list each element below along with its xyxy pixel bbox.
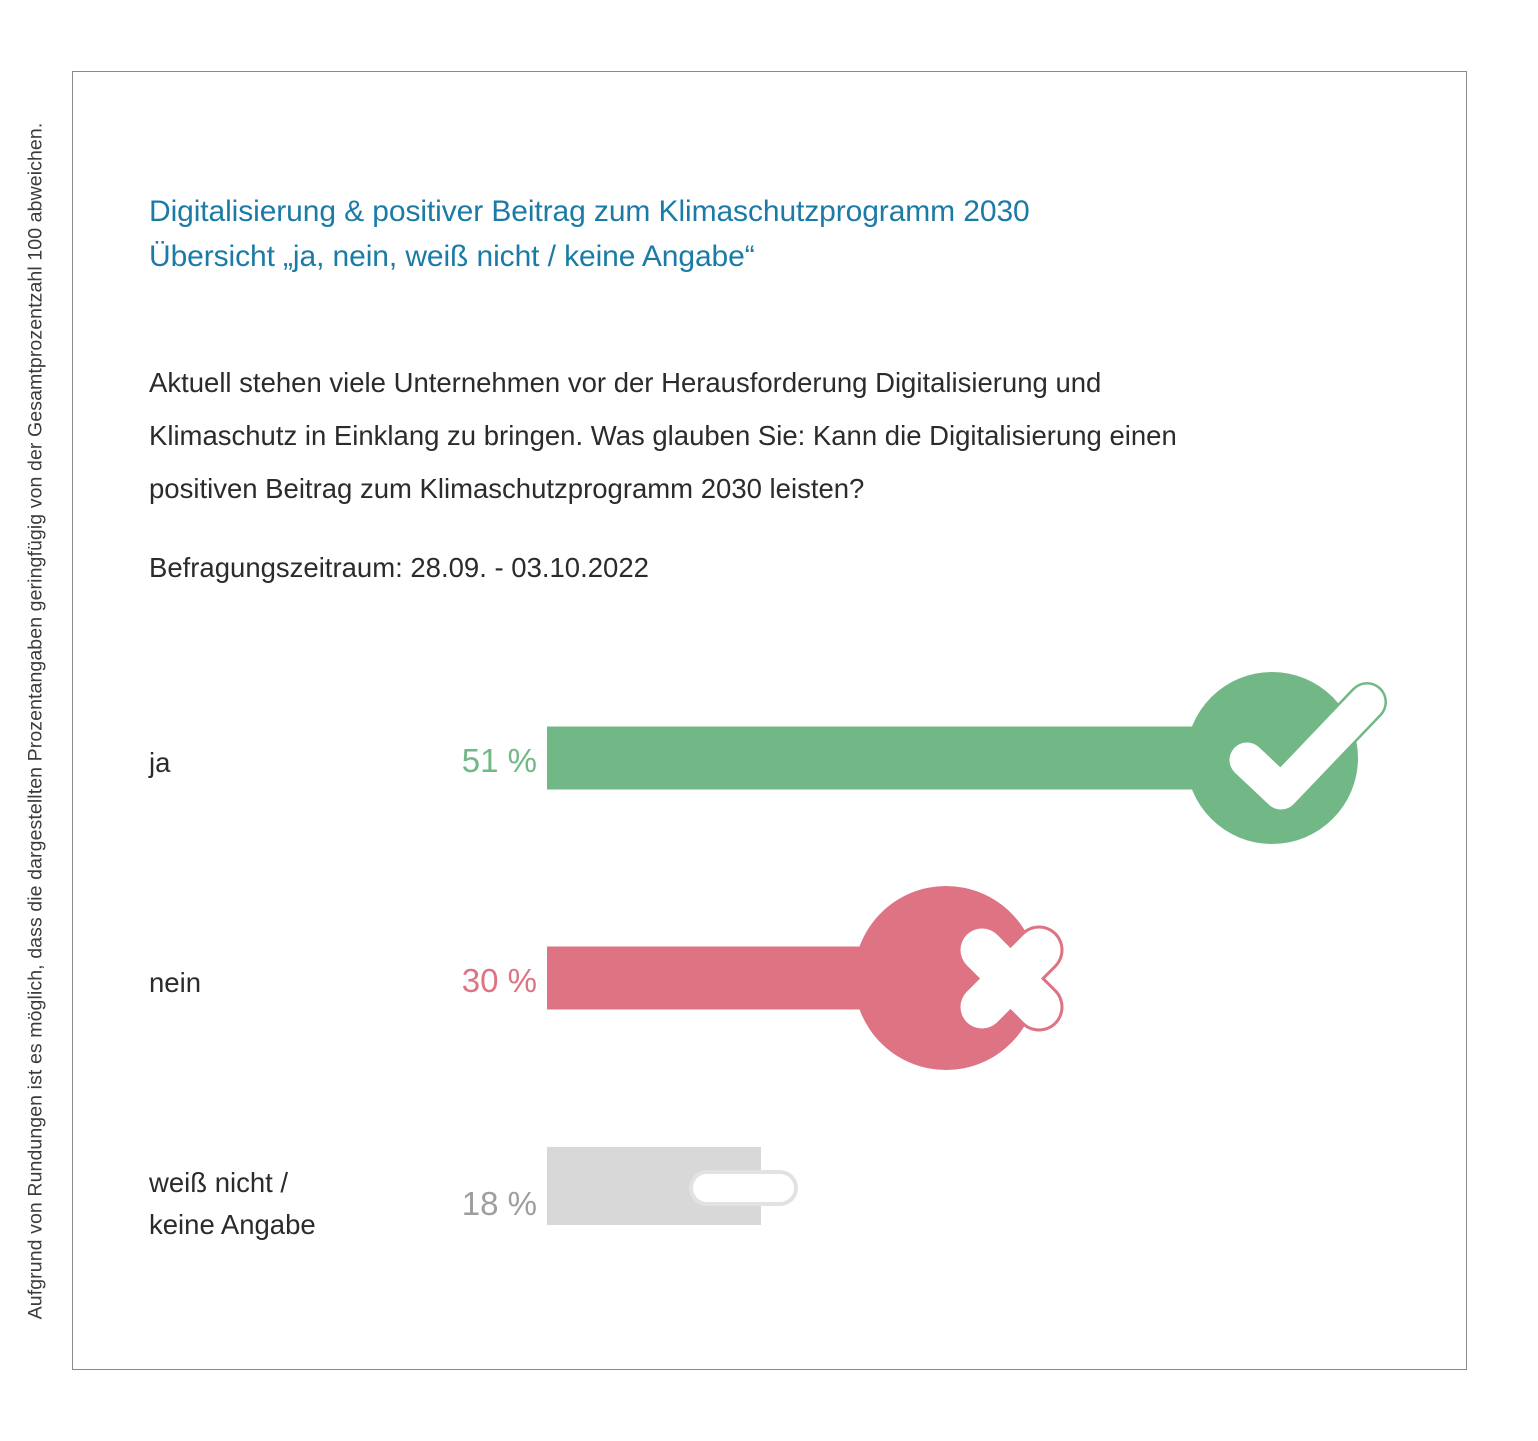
cross-icon xyxy=(982,950,1039,1007)
bar-chart-area: ja 51 % nein 30 % xyxy=(73,72,1468,1371)
bar-value-nein: 30 % xyxy=(347,964,537,998)
bar-track-ja xyxy=(547,632,1447,862)
bar-row-ja: ja 51 % xyxy=(73,632,1468,862)
bar-graphic-keine-angabe xyxy=(547,1077,947,1297)
footnote-sidebar: Aufgrund von Rundungen ist es möglich, d… xyxy=(0,0,72,1441)
bar-value-ja: 51 % xyxy=(347,744,537,778)
bar-graphic-ja xyxy=(547,632,1467,862)
bar-fill-ja xyxy=(547,727,1287,790)
dash-icon xyxy=(691,1172,796,1204)
chart-panel-frame: Digitalisierung & positiver Beitrag zum … xyxy=(72,71,1467,1370)
bar-value-keine-angabe: 18 % xyxy=(347,1187,537,1221)
bar-row-nein: nein 30 % xyxy=(73,852,1468,1082)
bar-graphic-nein xyxy=(547,852,1247,1082)
bar-track-nein xyxy=(547,852,1447,1082)
bar-row-keine-angabe: weiß nicht / keine Angabe 18 % xyxy=(73,1077,1468,1297)
bar-track-keine-angabe xyxy=(547,1077,1047,1297)
rounding-footnote-text: Aufgrund von Rundungen ist es möglich, d… xyxy=(25,122,48,1319)
